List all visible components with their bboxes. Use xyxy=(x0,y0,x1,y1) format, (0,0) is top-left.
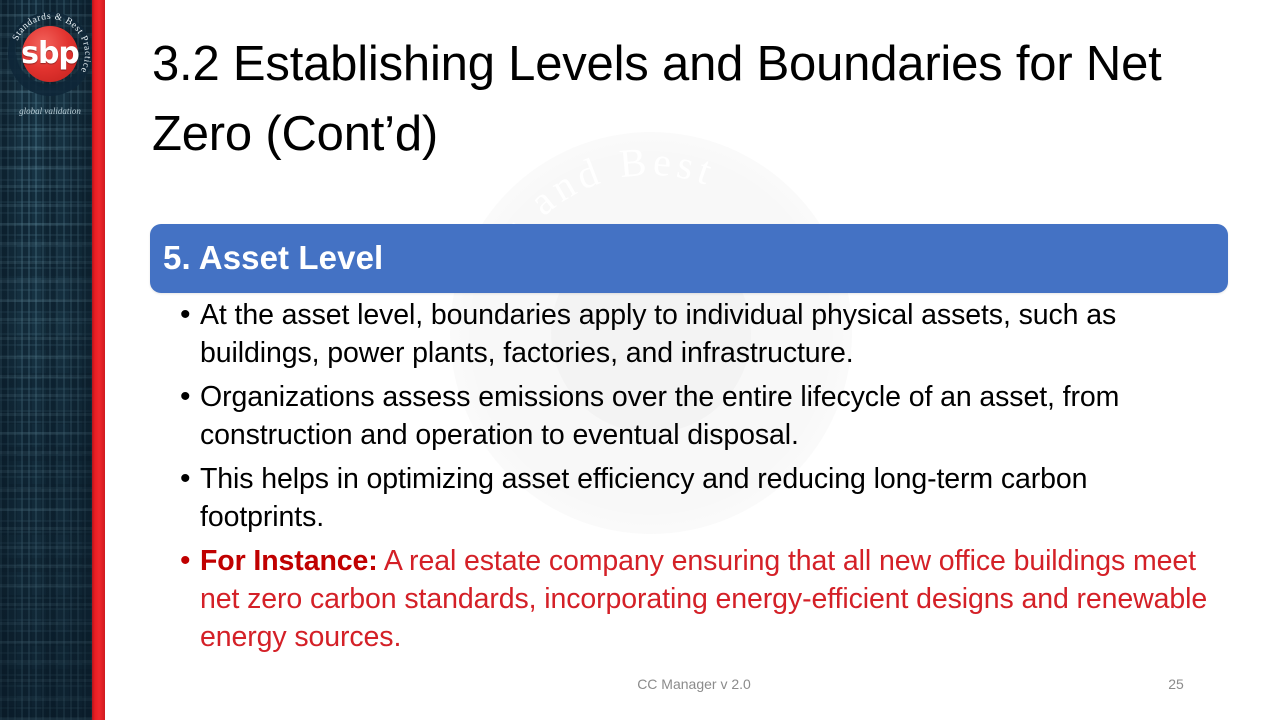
list-item-text: For Instance: A real estate company ensu… xyxy=(200,542,1210,656)
list-item: • Organizations assess emissions over th… xyxy=(180,378,1210,454)
left-sidebar: Standards & Best Practice sbp global val… xyxy=(0,0,95,720)
slide-number: 25 xyxy=(1148,676,1204,692)
slide-canvas: Standards & Best Practice sbp global val… xyxy=(0,0,1280,720)
footer-label: CC Manager v 2.0 xyxy=(637,676,751,692)
list-item-lead-label: For Instance: xyxy=(200,545,378,577)
list-item-text: This helps in optimizing asset efficienc… xyxy=(200,460,1210,536)
sbp-logo: Standards & Best Practice sbp global val… xyxy=(3,6,95,128)
red-accent-stripe xyxy=(92,0,105,720)
bullet-marker-icon: • xyxy=(180,460,200,498)
section-banner-label: 5. Asset Level xyxy=(163,239,383,277)
list-item-text: At the asset level, boundaries apply to … xyxy=(200,296,1210,372)
list-item-highlight: • For Instance: A real estate company en… xyxy=(180,542,1210,656)
bullet-marker-icon: • xyxy=(180,542,200,580)
bullet-marker-icon: • xyxy=(180,296,200,334)
slide-content: ds and Best 3.2 Establishing Levels and … xyxy=(108,0,1280,720)
page-title: 3.2 Establishing Levels and Boundaries f… xyxy=(152,30,1222,169)
bullet-marker-icon: • xyxy=(180,378,200,416)
logo-tagline: global validation xyxy=(3,106,95,116)
section-banner: 5. Asset Level xyxy=(150,224,1228,293)
bullet-list: • At the asset level, boundaries apply t… xyxy=(180,296,1210,662)
list-item: • This helps in optimizing asset efficie… xyxy=(180,460,1210,536)
logo-wordmark: sbp xyxy=(22,26,78,82)
list-item-text: Organizations assess emissions over the … xyxy=(200,378,1210,454)
list-item: • At the asset level, boundaries apply t… xyxy=(180,296,1210,372)
footer-center-text: CC Manager v 2.0 xyxy=(108,676,1280,692)
